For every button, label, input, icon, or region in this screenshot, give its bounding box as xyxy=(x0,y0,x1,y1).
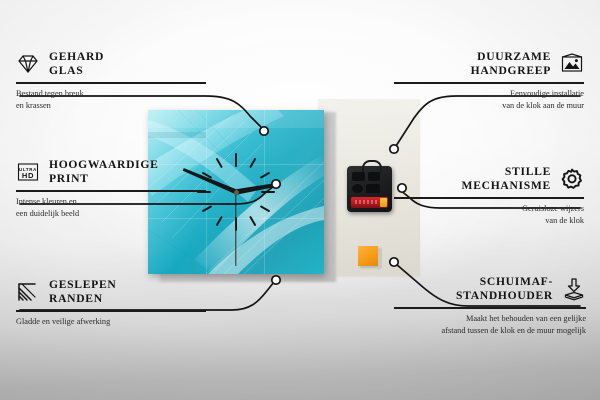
callout-subtitle: Gladde en veilige afwerking xyxy=(16,316,206,328)
svg-text:HD: HD xyxy=(22,171,34,180)
callout-rule xyxy=(394,82,584,83)
callout-schuimafstandhouder: SCHUIMAF- STANDHOUDER Maakt het behouden… xyxy=(394,275,586,337)
callout-rule xyxy=(394,197,584,198)
foam-spacer-pad xyxy=(358,246,378,266)
callout-rule xyxy=(16,82,206,83)
callout-hoogwaardige-print: ultra HD HOOGWAARDIGE PRINT Intense kleu… xyxy=(16,158,206,220)
clock-center-cap xyxy=(234,190,239,195)
callout-rule xyxy=(16,310,206,311)
callout-subtitle: Eenvoudige installatie van de klok aan d… xyxy=(394,88,584,112)
callout-rule xyxy=(16,190,206,191)
beveled-edges-icon xyxy=(16,280,40,304)
diamond-icon xyxy=(16,52,40,76)
product-infographic: GEHARD GLAS Bestand tegen breuk en krass… xyxy=(0,0,600,400)
callout-subtitle: Intense kleuren en een duidelijk beeld xyxy=(16,196,206,220)
callout-title: GEHARD GLAS xyxy=(49,50,104,78)
callout-title: GESLEPEN RANDEN xyxy=(49,278,116,306)
callout-subtitle: Bestand tegen breuk en krassen xyxy=(16,88,206,112)
callout-gehard-glas: GEHARD GLAS Bestand tegen breuk en krass… xyxy=(16,50,206,112)
callout-geslepen-randen: GESLEPEN RANDEN Gladde en veilige afwerk… xyxy=(16,278,206,328)
callout-subtitle: Maakt het behouden van een gelijke afsta… xyxy=(394,313,586,337)
callout-duurzame-handgreep: DUURZAME HANDGREEP Eenvoudige installati… xyxy=(394,50,584,112)
callout-title: HOOGWAARDIGE PRINT xyxy=(49,158,159,186)
battery xyxy=(351,197,388,208)
clock-mechanism xyxy=(347,166,392,212)
picture-frame-icon xyxy=(560,52,584,76)
callout-rule xyxy=(394,307,586,308)
callout-stille-mechanisme: STILLE MECHANISME Geruisloze wijzers van… xyxy=(394,165,584,227)
gear-icon xyxy=(560,167,584,191)
callout-subtitle: Geruisloze wijzers van de klok xyxy=(394,203,584,227)
callout-title: SCHUIMAF- STANDHOUDER xyxy=(456,275,553,303)
callout-title: DUURZAME HANDGREEP xyxy=(471,50,551,78)
callout-title: STILLE MECHANISME xyxy=(462,165,551,193)
ultra-hd-icon: ultra HD xyxy=(16,160,40,184)
down-arrow-pad-icon xyxy=(562,277,586,301)
